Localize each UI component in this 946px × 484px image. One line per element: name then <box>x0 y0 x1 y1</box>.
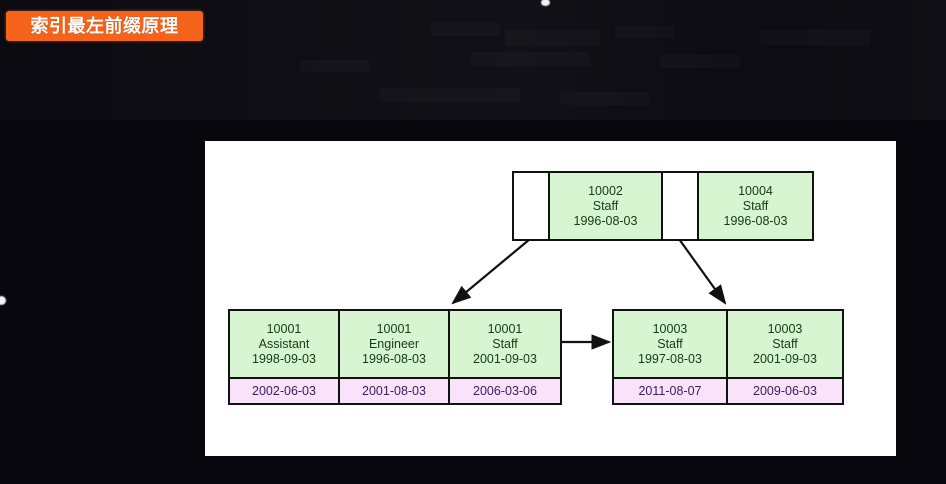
root-node: 10002 Staff 1996-08-03 10004 Staff 1996-… <box>512 171 814 241</box>
root-key-cell-3: 10004 Staff 1996-08-03 <box>699 173 812 239</box>
leaf-node-right: 10003 Staff 1997-08-03 10003 Staff 2001-… <box>612 309 844 405</box>
leaf-left-key-row: 10001 Assistant 1998-09-03 10001 Enginee… <box>230 311 560 377</box>
key-id: 10002 <box>588 184 623 199</box>
background-artifact <box>505 30 600 46</box>
leaf-left-date-cell-1: 2001-08-03 <box>340 377 450 403</box>
leaf-left-key-cell-0: 10001 Assistant 1998-09-03 <box>230 311 340 377</box>
key-date: 1996-08-03 <box>574 214 638 229</box>
key-id: 10003 <box>768 322 803 337</box>
background-artifact <box>300 60 370 72</box>
key-id: 10001 <box>377 322 412 337</box>
key-date: 1996-08-03 <box>724 214 788 229</box>
background-artifact <box>660 55 740 68</box>
root-pointer-cell-0 <box>514 173 550 239</box>
key-date: 2001-09-03 <box>753 352 817 367</box>
key-date: 2001-09-03 <box>473 352 537 367</box>
leaf-left-date-row: 2002-06-03 2001-08-03 2006-03-06 <box>230 377 560 403</box>
background-artifact <box>430 22 500 36</box>
leaf-left-date-cell-2: 2006-03-06 <box>450 377 560 403</box>
leaf-right-date-cell-0: 2011-08-07 <box>614 377 728 403</box>
slide-title-banner: 索引最左前缀原理 <box>6 11 203 41</box>
background-artifact <box>380 88 520 102</box>
leaf-left-key-cell-1: 10001 Engineer 1996-08-03 <box>340 311 450 377</box>
key-title: Assistant <box>259 337 310 352</box>
leaf-right-date-cell-1: 2009-06-03 <box>728 377 842 403</box>
key-title: Staff <box>593 199 618 214</box>
key-date: 1996-08-03 <box>362 352 426 367</box>
leaf-right-key-cell-0: 10003 Staff 1997-08-03 <box>614 311 728 377</box>
leaf-right-date-row: 2011-08-07 2009-06-03 <box>614 377 842 403</box>
b-plus-tree-diagram: 10002 Staff 1996-08-03 10004 Staff 1996-… <box>205 141 896 456</box>
key-title: Staff <box>657 337 682 352</box>
key-date: 1997-08-03 <box>638 352 702 367</box>
key-title: Engineer <box>369 337 419 352</box>
key-title: Staff <box>772 337 797 352</box>
key-date: 1998-09-03 <box>252 352 316 367</box>
key-id: 10003 <box>653 322 688 337</box>
key-id: 10004 <box>738 184 773 199</box>
background-artifact <box>615 26 675 38</box>
root-node-key-row: 10002 Staff 1996-08-03 10004 Staff 1996-… <box>514 173 812 239</box>
leaf-left-key-cell-2: 10001 Staff 2001-09-03 <box>450 311 560 377</box>
key-title: Staff <box>492 337 517 352</box>
key-id: 10001 <box>267 322 302 337</box>
leaf-right-key-cell-1: 10003 Staff 2001-09-03 <box>728 311 842 377</box>
leaf-right-key-row: 10003 Staff 1997-08-03 10003 Staff 2001-… <box>614 311 842 377</box>
root-pointer-cell-2 <box>663 173 699 239</box>
highlight-dot-artifact <box>0 296 6 305</box>
content-panel: 10002 Staff 1996-08-03 10004 Staff 1996-… <box>205 141 896 456</box>
key-title: Staff <box>743 199 768 214</box>
background-artifact <box>760 30 870 45</box>
background-artifact <box>560 92 650 105</box>
root-to-left-leaf-arrow <box>453 239 530 303</box>
root-key-cell-1: 10002 Staff 1996-08-03 <box>550 173 663 239</box>
leaf-node-left: 10001 Assistant 1998-09-03 10001 Enginee… <box>228 309 562 405</box>
root-to-right-leaf-arrow <box>679 239 725 303</box>
background-artifact <box>470 52 590 66</box>
page-title: 索引最左前缀原理 <box>31 17 179 35</box>
leaf-left-date-cell-0: 2002-06-03 <box>230 377 340 403</box>
key-id: 10001 <box>488 322 523 337</box>
